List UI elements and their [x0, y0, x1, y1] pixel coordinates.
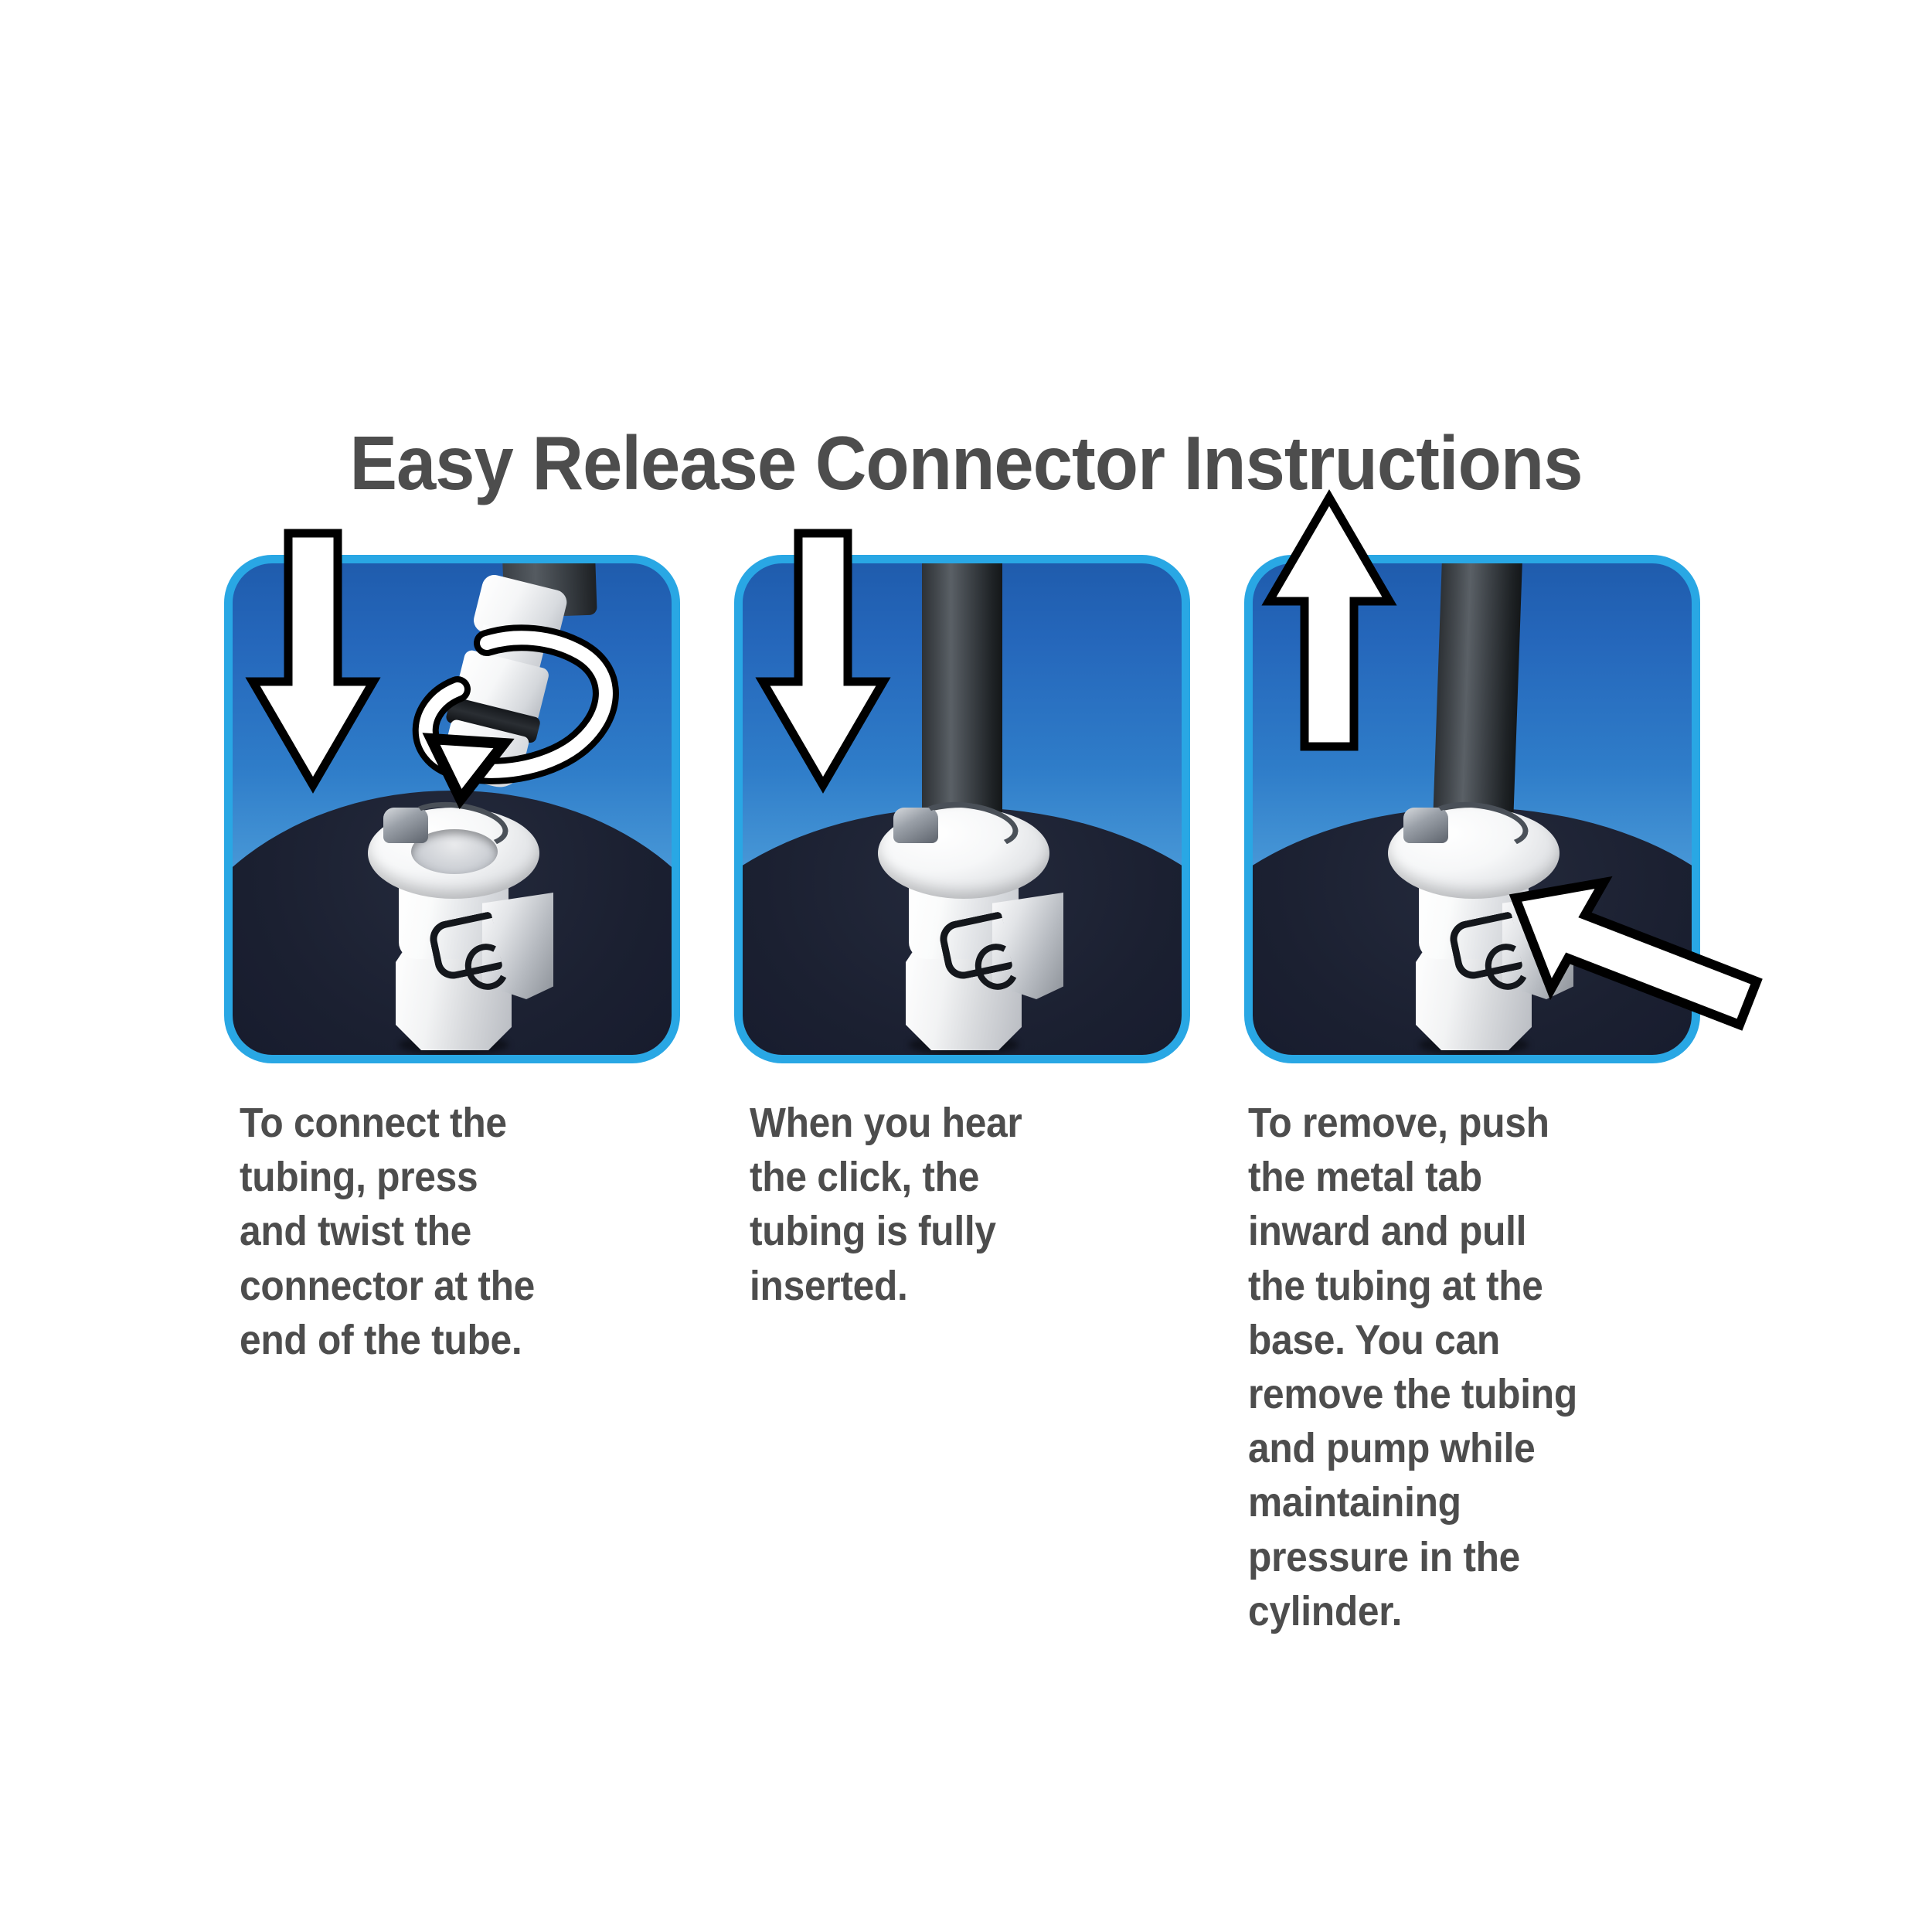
instruction-sheet: Easy Release Connector Instructions — [0, 0, 1932, 1932]
diagonal-push-arrow-icon — [1511, 866, 1766, 1043]
down-arrow-icon — [761, 533, 885, 788]
caption-step-2: When you hear the click, the tubing is f… — [750, 1096, 1034, 1313]
captions-row: To connect the tubing, press and twist t… — [224, 1096, 1762, 1467]
twist-arrow-icon — [386, 603, 665, 827]
page-title: Easy Release Connector Instructions — [58, 423, 1874, 503]
down-arrow-icon — [251, 533, 375, 788]
receiving-fitting — [866, 795, 1059, 1050]
up-arrow-icon — [1267, 495, 1391, 750]
receiving-fitting — [355, 795, 549, 1050]
caption-step-3: To remove, push the metal tab inward and… — [1248, 1096, 1582, 1638]
caption-step-1: To connect the tubing, press and twist t… — [240, 1096, 538, 1367]
